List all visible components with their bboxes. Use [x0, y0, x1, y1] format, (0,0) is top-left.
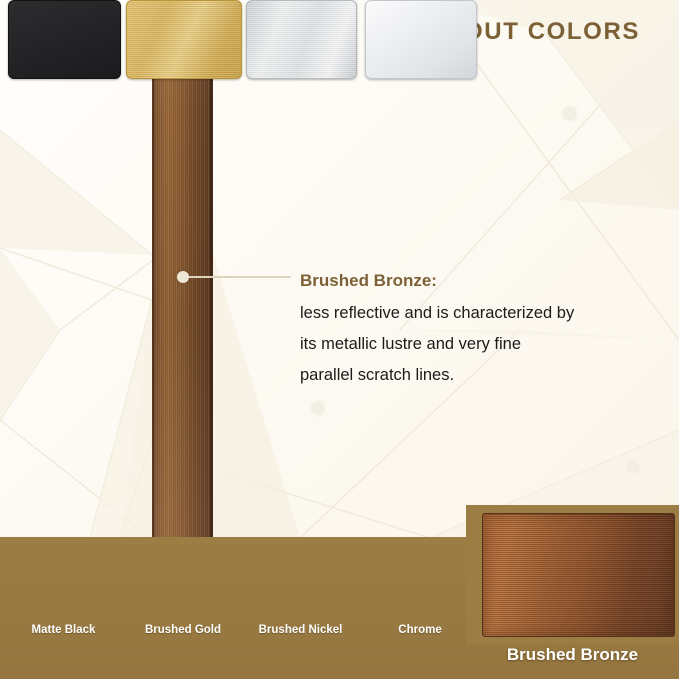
swatch-label-brushed-bronze: Brushed Bronze — [466, 645, 679, 665]
callout-line: its metallic lustre and very fine — [300, 329, 650, 360]
swatch-label-chrome: Chrome — [365, 624, 475, 636]
swatch-label-brushed-gold: Brushed Gold — [126, 624, 240, 636]
swatch-brushed-bronze[interactable] — [482, 513, 675, 637]
swatch-brushed-gold[interactable] — [126, 0, 242, 79]
column-left-edge — [152, 0, 154, 538]
column-sheen — [152, 0, 213, 538]
background-dot-icon — [563, 107, 576, 120]
callout-heading: Brushed Bronze: — [300, 265, 650, 296]
swatch-chrome[interactable] — [365, 0, 477, 79]
swatch-label-matte-black: Matte Black — [8, 624, 119, 636]
background-dot-icon — [628, 462, 638, 472]
background-dot-icon — [312, 402, 324, 414]
swatch-brushed-nickel[interactable] — [246, 0, 357, 79]
swatch-label-brushed-nickel: Brushed Nickel — [246, 624, 355, 636]
callout-dot-icon — [177, 271, 189, 283]
callout-line: parallel scratch lines. — [300, 360, 650, 391]
about-colors-infographic: ABOUT COLORS Brushed Bronze: less reflec… — [0, 0, 679, 679]
swatch-matte-black[interactable] — [8, 0, 121, 79]
brushed-bronze-column — [152, 0, 213, 538]
column-right-edge — [210, 0, 213, 538]
callout-text-block: Brushed Bronze: less reflective and is c… — [300, 265, 650, 391]
callout-leader-line-icon — [189, 276, 291, 278]
callout-line: less reflective and is characterized by — [300, 298, 650, 329]
